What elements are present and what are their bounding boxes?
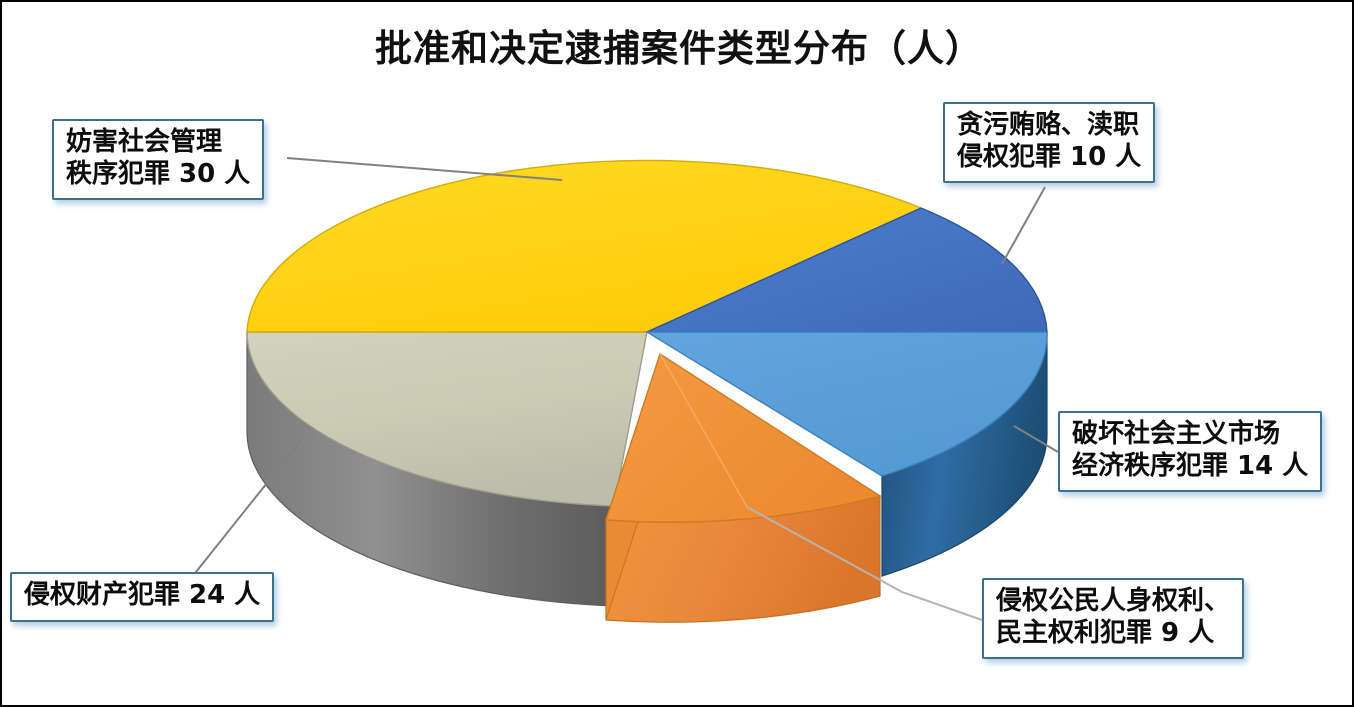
callout-label-obstruct[interactable]: 妨害社会管理 秩序犯罪 30 人 [52,119,264,200]
callout-label-person[interactable]: 侵权公民人身权利、 民主权利犯罪 9 人 [982,578,1244,659]
callout-property-line1: 侵权财产犯罪 24 人 [24,580,260,612]
callout-person-line2: 民主权利犯罪 9 人 [996,618,1230,650]
leader-line-corrupt [1002,187,1045,264]
callout-label-market[interactable]: 破坏社会主义市场 经济秩序犯罪 14 人 [1058,411,1322,492]
callout-market-line2: 经济秩序犯罪 14 人 [1072,451,1308,483]
callout-corrupt-line2: 侵权犯罪 10 人 [957,142,1141,174]
callout-label-corrupt[interactable]: 贪污贿赂、渎职 侵权犯罪 10 人 [943,102,1155,183]
leader-line-property [188,439,302,582]
callout-obstruct-line2: 秩序犯罪 30 人 [66,159,250,191]
callout-label-property[interactable]: 侵权财产犯罪 24 人 [10,572,274,622]
callout-obstruct-line1: 妨害社会管理 [66,127,250,159]
chart-canvas: 批准和决定逮捕案件类型分布（人） [0,0,1354,707]
callout-market-line1: 破坏社会主义市场 [1072,419,1308,451]
callout-person-line1: 侵权公民人身权利、 [996,586,1230,618]
callout-corrupt-line1: 贪污贿赂、渎职 [957,110,1141,142]
